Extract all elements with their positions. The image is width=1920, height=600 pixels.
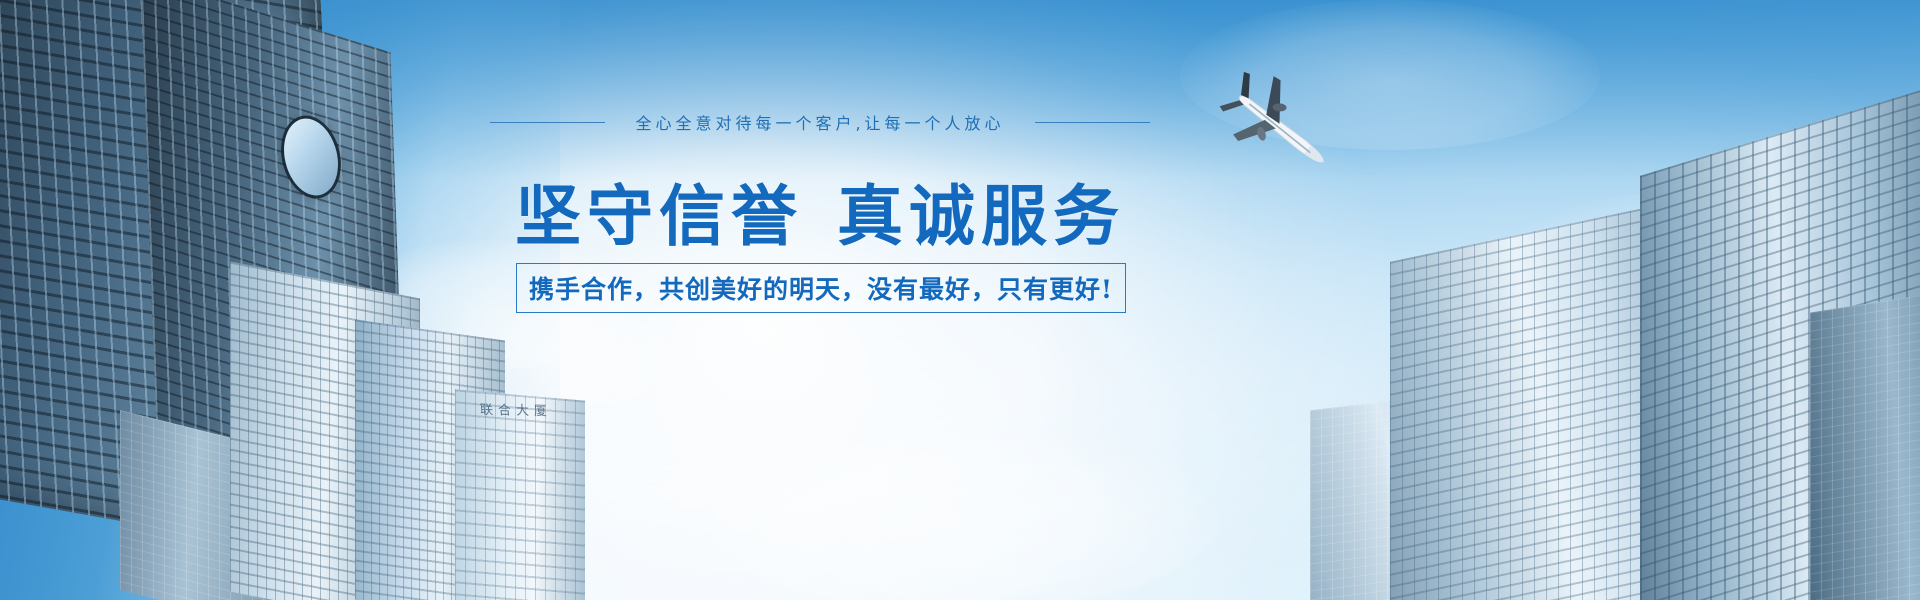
rule-right [1035,122,1150,123]
headline-part-2: 真诚服务 [837,177,1125,255]
tagline-row: 全心全意对待每一个客户,让每一个人放心 [460,110,1180,134]
subtitle-text: 携手合作，共创美好的明天，没有最好，只有更好! [529,270,1113,306]
page-title: 坚守信誉真诚服务 [460,163,1180,259]
headline-part-1: 坚守信誉 [515,177,803,255]
tagline-text: 全心全意对待每一个客户,让每一个人放心 [635,110,1004,134]
banner-content: 全心全意对待每一个客户,让每一个人放心 坚守信誉真诚服务 携手合作，共创美好的明… [0,0,1920,600]
rule-left [490,122,605,123]
hero-banner: 联合大厦 [0,0,1920,600]
subtitle-box: 携手合作，共创美好的明天，没有最好，只有更好! [516,263,1126,313]
